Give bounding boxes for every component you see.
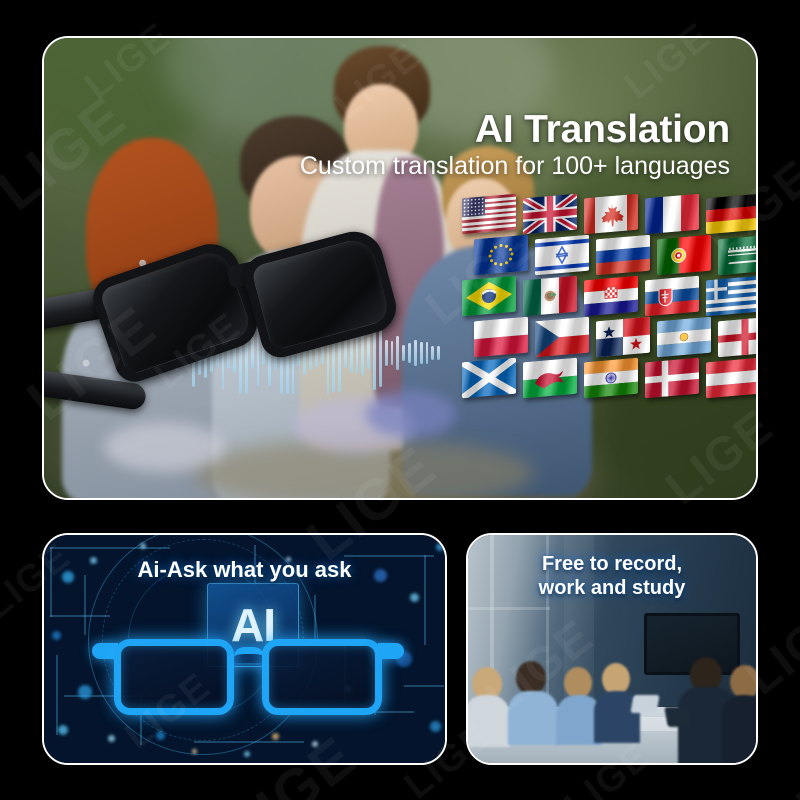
flag-pl [474,317,528,358]
flag-il [535,235,589,276]
flag-at [706,358,758,399]
promo-canvas: AI Translation Custom translation for 10… [0,0,800,800]
flag-ca [584,194,638,235]
glow-temple-right [378,643,404,659]
flag-grid [462,196,758,401]
hero-panel: AI Translation Custom translation for 10… [42,36,758,500]
attendee-head [516,661,546,695]
bokeh-dot [78,685,92,699]
watermark-text: LIGE [755,723,800,800]
flag-de [706,194,758,235]
attendee-body [466,695,510,747]
flag-mx [523,276,577,317]
laptop [664,707,692,727]
circuit-trace [84,575,86,635]
attendee-body [722,695,758,765]
flag-us [462,194,516,235]
attendee-head [730,665,758,699]
flag-pa [596,317,650,358]
flag-sct [462,358,516,399]
bokeh-dot [430,721,441,732]
flag-eng [718,317,758,358]
flag-row [462,278,758,314]
bokeh-dot [108,735,115,742]
bokeh-dot [410,593,419,602]
flag-row [462,196,758,232]
meeting-title-line-1: Free to record, [468,553,756,577]
flag-hr [584,276,638,317]
bokeh-dot [436,543,444,551]
bokeh-dot [312,741,318,747]
flag-row [474,319,758,355]
glasses-lens-left [87,236,264,387]
flag-row [462,360,758,396]
ai-panel-title: Ai-Ask what you ask [44,557,445,583]
glasses-hinge-dot [82,359,91,368]
flag-dk [645,358,699,399]
flag-sa [718,235,758,276]
flag-cz [535,317,589,358]
bokeh-dot [272,733,279,740]
glasses-lens-right [240,225,402,362]
flag-fr [645,194,699,235]
glow-bridge [234,647,264,663]
glow-lens-left [114,639,234,715]
flag-gb [523,194,577,235]
bokeh-dot [244,751,250,757]
glow-lens-right [262,639,382,715]
bokeh-dot [58,725,68,735]
flag-eu [474,235,528,276]
flag-sk [645,276,699,317]
meeting-title-line-2: work and study [468,577,756,601]
meeting-panel-title: Free to record, work and study [468,553,756,600]
flag-br [462,276,516,317]
wall-seam [468,607,550,610]
attendee-body [508,691,558,745]
meeting-panel: Free to record, work and study [466,533,758,765]
ai-ask-panel: AI Ai-Ask what you ask [42,533,447,765]
flag-row [474,237,758,273]
flag-ar [657,317,711,358]
glowing-glasses-icon [92,633,404,729]
circuit-trace [404,685,444,687]
flag-wls [523,358,577,399]
flag-pt [657,235,711,276]
flag-ru [596,235,650,276]
bokeh-dot [52,631,61,640]
laptop [630,695,659,713]
page-title: AI Translation [475,108,730,152]
flag-gr [706,276,758,317]
circuit-trace [56,655,58,735]
page-subtitle: Custom translation for 100+ languages [300,152,730,181]
flag-in [584,358,638,399]
